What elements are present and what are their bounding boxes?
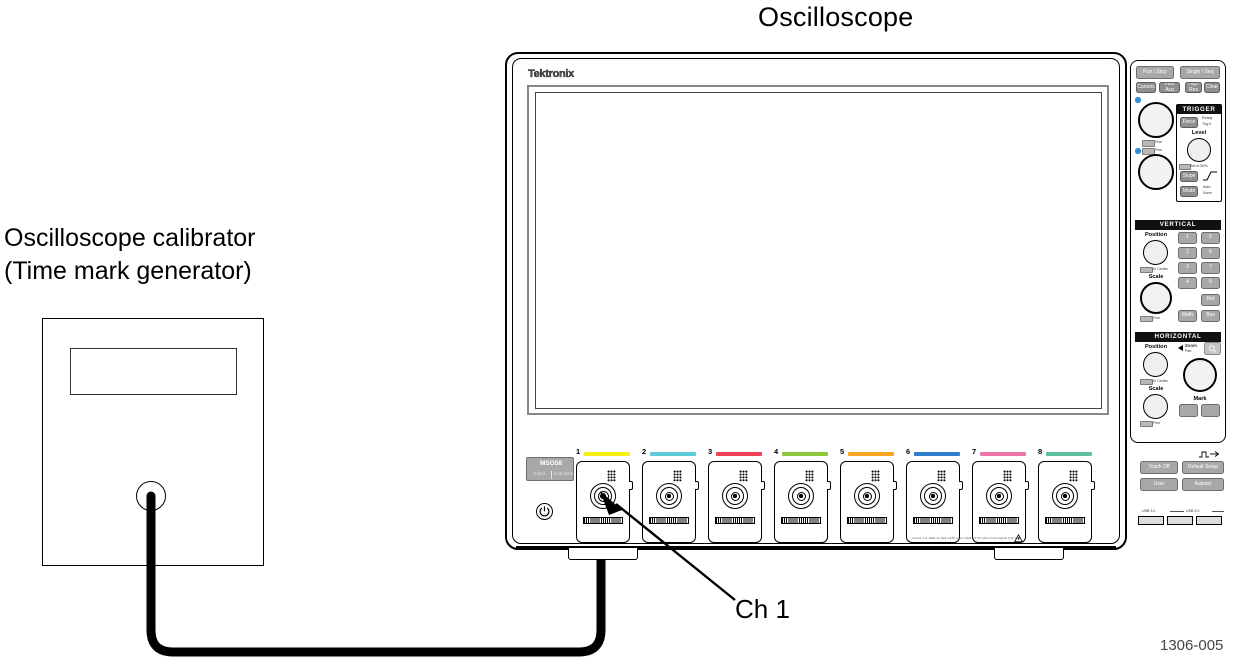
ref-button[interactable]: Ref: [1201, 294, 1220, 306]
horizontal-scale-knob[interactable]: [1143, 394, 1168, 419]
trigger-force-button[interactable]: Force: [1180, 117, 1198, 128]
trigger-b-led: [1135, 148, 1141, 154]
horizontal-to-center-label: to Center: [1153, 379, 1168, 383]
page-title: Oscilloscope: [758, 2, 913, 33]
trigger-a-push-label: Fine: [1155, 140, 1162, 144]
channel-6-number: 6: [906, 447, 910, 456]
channel-6-digital-connector[interactable]: [913, 517, 953, 524]
channel-5-side-tab: [893, 481, 897, 490]
model-bandwidth: 2 GHz: [528, 471, 551, 476]
zoom-button[interactable]: [1204, 342, 1221, 355]
bus-button[interactable]: Bus: [1201, 310, 1220, 322]
calibrator-label-line1: Oscilloscope calibrator: [4, 222, 256, 255]
default-setup-button[interactable]: Default Setup: [1182, 461, 1224, 474]
vertical-position-center-led: [1140, 267, 1153, 273]
zoom-pan-knob[interactable]: [1183, 358, 1217, 392]
trigger-section-label: TRIGGER: [1177, 105, 1221, 114]
trigger-auto-label: Auto: [1203, 185, 1210, 189]
channel-3-side-tab: [761, 481, 765, 490]
touch-off-button[interactable]: Touch Off: [1140, 461, 1178, 474]
single-seq-button[interactable]: Single / Seq: [1180, 66, 1220, 79]
channel-8-side-tab: [1091, 481, 1095, 490]
ch1-callout-arrow: [580, 480, 750, 610]
channel-4-bnc-center-pin: [799, 494, 802, 497]
model-name: MSO58: [527, 460, 575, 467]
vertical-scale-label: Scale: [1136, 274, 1176, 280]
channel-1-number: 1: [576, 447, 580, 456]
channel-6-side-tab: [959, 481, 963, 490]
channel-4-digital-connector[interactable]: [781, 517, 821, 524]
channel-7-button[interactable]: 7: [1201, 262, 1220, 274]
channel-1-color-bar: [584, 452, 630, 456]
channel-8-button[interactable]: 8: [1201, 277, 1220, 289]
trigger-a-push-led: [1142, 140, 1155, 147]
display-screen[interactable]: [535, 92, 1102, 409]
vertical-fine-label: Fine: [1153, 316, 1160, 320]
trigger-b-knob[interactable]: [1138, 154, 1174, 190]
power-button[interactable]: [536, 503, 553, 520]
channel-8-number: 8: [1038, 447, 1042, 456]
input-ratings-fineprint: Inputs 1-8 1MΩ ±1.5pF ≤250 Vrms 50Ω ±0.5…: [912, 537, 1020, 541]
channel-4-color-bar: [782, 452, 828, 456]
horizontal-position-label: Position: [1136, 344, 1176, 350]
slope-waveform-icon: [1202, 170, 1218, 182]
channel-1-button[interactable]: 1: [1178, 232, 1197, 244]
trigger-ready-label: Ready: [1202, 116, 1212, 120]
channel-5-digital-connector[interactable]: [847, 517, 887, 524]
horizontal-position-knob[interactable]: [1143, 352, 1168, 377]
usb3-label: USB 3.0: [1142, 509, 1155, 513]
usb-divider-right: [1212, 511, 1224, 512]
user-button[interactable]: User: [1140, 478, 1178, 491]
mark-next-button[interactable]: [1201, 404, 1220, 417]
magnifier-icon: [1207, 344, 1218, 354]
probe-compensation-icon: [1198, 450, 1220, 459]
trigger-trigd-label: Trig'd: [1202, 122, 1211, 126]
channel-4-button[interactable]: 4: [1178, 277, 1197, 289]
trigger-mode-button[interactable]: Mode: [1180, 186, 1198, 197]
model-samplerate: 6.25 GS/s: [552, 471, 575, 476]
channel-7-color-bar: [980, 452, 1026, 456]
vertical-position-knob[interactable]: [1143, 240, 1168, 265]
calibrator-label-line2: (Time mark generator): [4, 255, 256, 288]
usb2-port-1[interactable]: [1167, 516, 1193, 525]
channel-6-color-bar: [914, 452, 960, 456]
control-panel: Run / Stop Single / Seq Cursors Fast Acq…: [1130, 60, 1228, 443]
channel-8-probe-pins: [1069, 469, 1078, 481]
vertical-to-center-label: to Center: [1153, 267, 1168, 271]
channel-3-number: 3: [708, 447, 712, 456]
channel-7-bnc-center-pin: [997, 494, 1000, 497]
channel-3-color-bar: [716, 452, 762, 456]
clear-button[interactable]: Clear: [1204, 82, 1220, 93]
calibrator-label: Oscilloscope calibrator (Time mark gener…: [4, 222, 256, 288]
channel-8-digital-connector[interactable]: [1045, 517, 1085, 524]
high-res-button[interactable]: High Res: [1185, 82, 1202, 93]
channel-5-number: 5: [840, 447, 844, 456]
trigger-b-push-label: Fine: [1155, 148, 1162, 152]
channel-2-number: 2: [642, 447, 646, 456]
vertical-scale-fine-led: [1140, 316, 1153, 322]
trigger-a-led: [1135, 97, 1141, 103]
usb2-port-2[interactable]: [1196, 516, 1222, 525]
channel-2-button[interactable]: 2: [1178, 247, 1197, 259]
channel-7-side-tab: [1025, 481, 1029, 490]
trigger-level-knob[interactable]: [1187, 138, 1211, 162]
channel-5-probe-pins: [871, 469, 880, 481]
channel-5-button[interactable]: 5: [1201, 232, 1220, 244]
channel-7-probe-pins: [1003, 469, 1012, 481]
cursors-button[interactable]: Cursors: [1136, 82, 1156, 93]
mark-prev-button[interactable]: [1179, 404, 1198, 417]
channel-5-color-bar: [848, 452, 894, 456]
channel-4-number: 4: [774, 447, 778, 456]
run-stop-button[interactable]: Run / Stop: [1136, 66, 1174, 79]
vertical-position-label: Position: [1136, 232, 1176, 238]
channel-6-button[interactable]: 6: [1201, 247, 1220, 259]
channel-8-bnc-center-pin: [1063, 494, 1066, 497]
horizontal-scale-label: Scale: [1136, 386, 1176, 392]
foot-right: [994, 548, 1064, 560]
channel-6-probe-pins: [937, 469, 946, 481]
autoset-button[interactable]: Autoset: [1182, 478, 1224, 491]
trigger-a-knob[interactable]: [1138, 102, 1174, 138]
model-badge: MSO58 2 GHz 6.25 GS/s: [526, 457, 574, 481]
mark-label: Mark: [1178, 396, 1222, 402]
channel-6-bnc-center-pin: [931, 494, 934, 497]
channel-2-color-bar: [650, 452, 696, 456]
channel-3-button[interactable]: 3: [1178, 262, 1197, 274]
horizontal-section-label: HORIZONTAL: [1135, 332, 1221, 342]
trigger-slope-button[interactable]: Slope: [1180, 171, 1198, 182]
horizontal-fine-label: Fine: [1153, 421, 1160, 425]
trigger-set50-label: Set to 50%: [1190, 164, 1208, 168]
usb-divider-left: [1170, 511, 1184, 512]
channel-7-digital-connector[interactable]: [979, 517, 1019, 524]
usb3-port[interactable]: [1138, 516, 1164, 525]
horizontal-scale-fine-led: [1140, 421, 1153, 427]
zoom-pan-arrow-icon: [1177, 344, 1184, 352]
math-button[interactable]: Math: [1178, 310, 1197, 322]
pan-label: Pan: [1185, 349, 1191, 353]
trigger-norm-label: Norm: [1203, 191, 1212, 195]
horizontal-position-center-led: [1140, 379, 1153, 385]
channel-4-probe-pins: [805, 469, 814, 481]
channel-5-bnc-center-pin: [865, 494, 868, 497]
channel-7-number: 7: [972, 447, 976, 456]
warning-triangle-icon: [1014, 534, 1023, 543]
fast-acq-button[interactable]: Fast Acq: [1159, 82, 1180, 93]
trigger-level-label: Level: [1177, 130, 1221, 136]
vertical-section-label: VERTICAL: [1135, 220, 1221, 230]
figure-id: 1306-005: [1160, 637, 1223, 654]
channel-4-side-tab: [827, 481, 831, 490]
tektronix-logo: Tektronix: [528, 68, 574, 80]
power-icon: [537, 504, 552, 519]
channel-8-color-bar: [1046, 452, 1092, 456]
usb2-label: USB 2.0: [1186, 509, 1199, 513]
vertical-scale-knob[interactable]: [1140, 282, 1172, 314]
